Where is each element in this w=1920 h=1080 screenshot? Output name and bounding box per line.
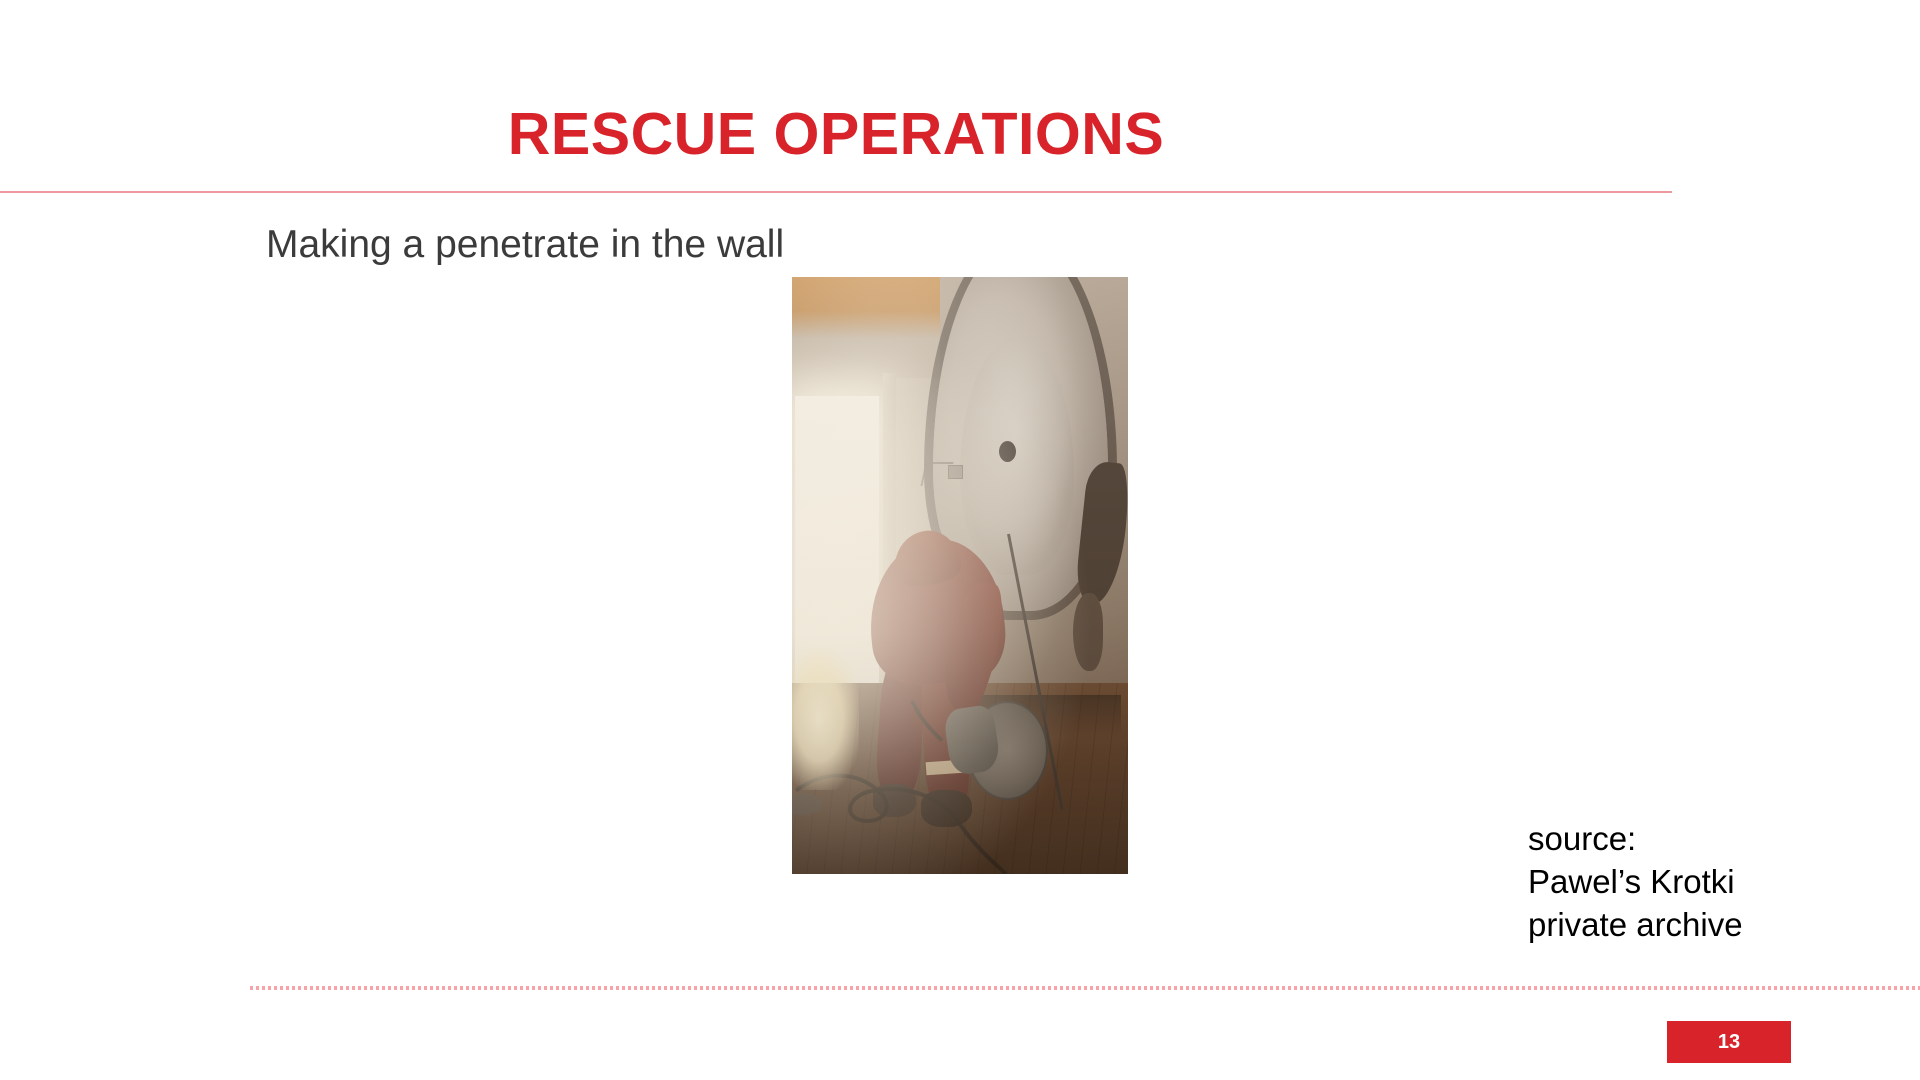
page-number-badge: 13 — [1667, 1021, 1791, 1063]
rescue-operation-photo — [792, 277, 1128, 874]
presentation-slide: RESCUE OPERATIONS Making a penetrate in … — [0, 0, 1920, 1080]
source-line-3: private archive — [1528, 904, 1743, 947]
source-line-1: source: — [1528, 818, 1743, 861]
photo-canvas — [792, 277, 1128, 874]
source-line-2: Pawel’s Krotki — [1528, 861, 1743, 904]
title-divider — [0, 191, 1672, 193]
footer-dotted-divider — [250, 986, 1920, 990]
slide-subtitle: Making a penetrate in the wall — [266, 223, 784, 268]
dust-haze-overall — [792, 277, 1128, 874]
page-title: RESCUE OPERATIONS — [0, 104, 1672, 166]
source-credit: source: Pawel’s Krotki private archive — [1528, 818, 1743, 947]
